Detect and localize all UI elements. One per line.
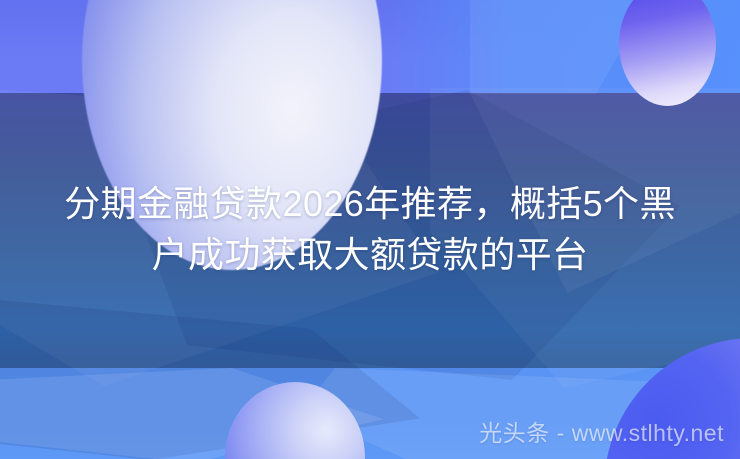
promo-banner: 分期金融贷款2026年推荐，概括5个黑 户成功获取大额贷款的平台 光头条 - w… — [0, 0, 740, 459]
title-container: 分期金融贷款2026年推荐，概括5个黑 户成功获取大额贷款的平台 — [0, 178, 740, 280]
site-watermark: 光头条 - www.stlhty.net — [479, 422, 724, 445]
banner-title: 分期金融贷款2026年推荐，概括5个黑 户成功获取大额贷款的平台 — [18, 178, 722, 280]
